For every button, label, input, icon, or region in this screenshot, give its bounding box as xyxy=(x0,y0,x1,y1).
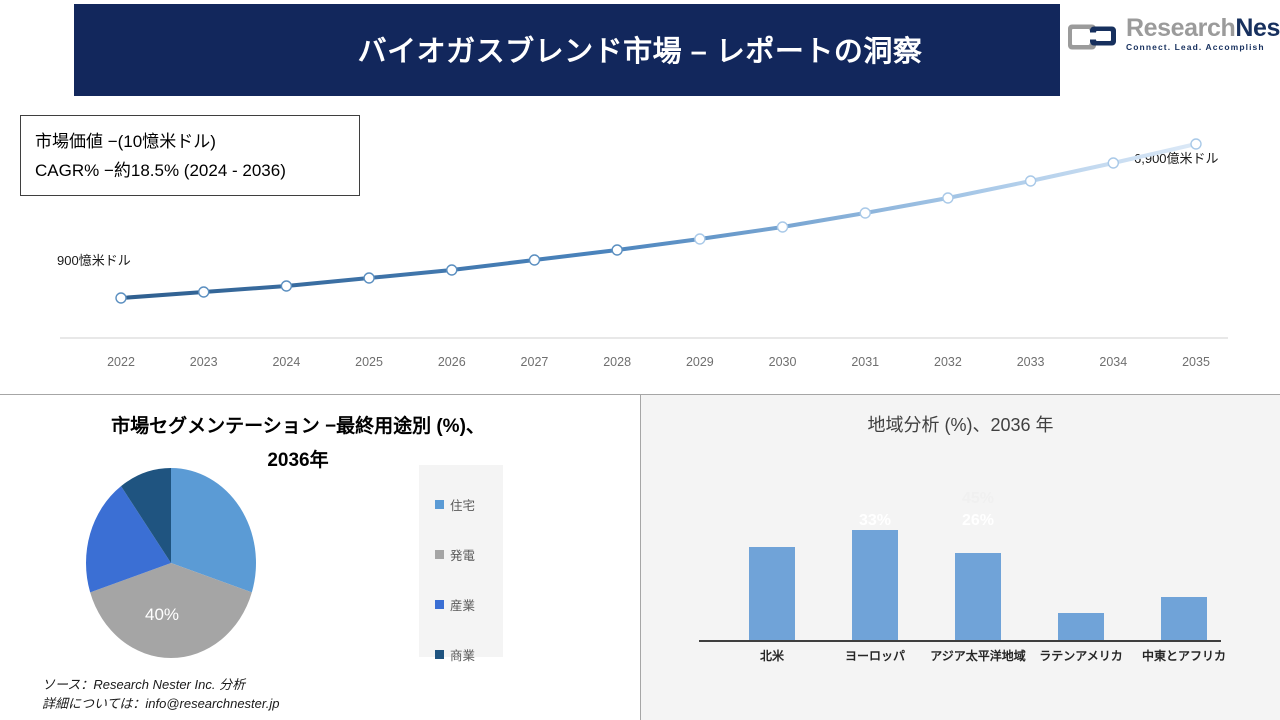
bar-value-label: 26% xyxy=(955,512,1001,530)
x-axis-year-label: 2034 xyxy=(1083,355,1143,369)
line-markers xyxy=(116,139,1201,303)
pie-title-line1: 市場セグメンテーション −最終用途別 (%)、 xyxy=(18,410,578,444)
line-marker xyxy=(116,293,126,303)
x-axis-year-label: 2030 xyxy=(753,355,813,369)
bar-category-label: 北米 xyxy=(712,647,832,664)
line-marker xyxy=(612,245,622,255)
line-marker xyxy=(1026,176,1036,186)
page-header: バイオガスブレンド市場 – レポートの洞察 ResearchNester Con… xyxy=(0,0,1280,96)
x-axis-year-label: 2035 xyxy=(1166,355,1226,369)
line-marker xyxy=(1108,158,1118,168)
pie-legend-label: 商業 xyxy=(450,645,475,664)
x-axis-year-label: 2023 xyxy=(174,355,234,369)
line-marker xyxy=(199,287,209,297)
segmentation-panel: 市場セグメンテーション −最終用途別 (%)、 2036年 40% 住宅発電産業… xyxy=(0,395,640,720)
line-marker xyxy=(1191,139,1201,149)
pie-legend: 住宅発電産業商業 xyxy=(419,465,503,657)
source-line-1: ソース：Research Nester Inc. 分析 xyxy=(42,675,279,694)
logo-text: ResearchNester Connect. Lead. Accomplish xyxy=(1126,14,1278,52)
x-axis-year-label: 2029 xyxy=(670,355,730,369)
bar-rect[interactable] xyxy=(749,547,795,640)
research-nester-logo: ResearchNester Connect. Lead. Accomplish xyxy=(1068,14,1278,66)
logo-word-research: Research xyxy=(1126,14,1235,42)
source-line-2: 詳細については：info@researchnester.jp xyxy=(42,694,279,713)
pie-legend-item[interactable]: 商業 xyxy=(419,629,503,679)
bar-column[interactable] xyxy=(1058,490,1104,640)
x-axis-year-label: 2033 xyxy=(1001,355,1061,369)
pie-legend-label: 住宅 xyxy=(450,495,475,514)
pie-chart-svg xyxy=(83,468,263,658)
x-axis-year-label: 2032 xyxy=(918,355,978,369)
bar-chart-axis xyxy=(699,640,1221,642)
legend-swatch-icon xyxy=(435,500,444,509)
bar-column[interactable] xyxy=(1161,490,1207,640)
pie-slices xyxy=(86,468,256,658)
line-chart-svg xyxy=(0,100,1280,394)
logo-word-nester: Nester xyxy=(1235,14,1280,42)
bar-category-label: 中東とアフリカ xyxy=(1124,647,1244,664)
legend-swatch-icon xyxy=(435,650,444,659)
pie-legend-item[interactable]: 産業 xyxy=(419,579,503,629)
pie-legend-item[interactable]: 発電 xyxy=(419,529,503,579)
line-marker xyxy=(778,222,788,232)
legend-swatch-icon xyxy=(435,600,444,609)
regional-analysis-panel: 地域分析 (%)、2036 年 33%45%26% 北米ヨーロッパアジア太平洋地… xyxy=(641,395,1280,720)
pie-legend-item[interactable]: 住宅 xyxy=(419,479,503,529)
legend-swatch-icon xyxy=(435,550,444,559)
bar-category-label: ヨーロッパ xyxy=(815,647,935,664)
line-marker xyxy=(281,281,291,291)
line-marker xyxy=(529,255,539,265)
x-axis-year-label: 2028 xyxy=(587,355,647,369)
x-axis-year-label: 2022 xyxy=(91,355,151,369)
bar-value-label: 33% xyxy=(852,512,898,530)
logo-mark-icon xyxy=(1068,19,1120,53)
pie-legend-label: 産業 xyxy=(450,595,475,614)
bar-column[interactable] xyxy=(749,490,795,640)
pie-slice-value-label: 40% xyxy=(130,605,194,625)
line-path xyxy=(121,144,1196,298)
line-marker xyxy=(860,208,870,218)
x-axis-year-label: 2026 xyxy=(422,355,482,369)
bar-category-label: アジア太平洋地域 xyxy=(918,647,1038,664)
x-axis-year-label: 2027 xyxy=(504,355,564,369)
market-value-line-chart: 900憶米ドル 6,900億米ドル 2022202320242025202620… xyxy=(0,100,1280,394)
x-axis-year-label: 2024 xyxy=(256,355,316,369)
line-marker xyxy=(364,273,374,283)
source-note: ソース：Research Nester Inc. 分析 詳細については：info… xyxy=(42,675,279,713)
bar-rect[interactable] xyxy=(955,553,1001,640)
x-axis-year-label: 2031 xyxy=(835,355,895,369)
bar-rect[interactable] xyxy=(852,530,898,640)
line-marker xyxy=(447,265,457,275)
line-series xyxy=(121,144,1196,298)
bar-chart-title: 地域分析 (%)、2036 年 xyxy=(641,411,1280,437)
bar-rect[interactable] xyxy=(1161,597,1207,640)
bar-value-label: 45% xyxy=(955,490,1001,508)
x-axis-year-label: 2025 xyxy=(339,355,399,369)
bar-rect[interactable] xyxy=(1058,613,1104,640)
line-marker xyxy=(943,193,953,203)
bar-category-label: ラテンアメリカ xyxy=(1021,647,1141,664)
bar-chart-plot: 33%45%26% xyxy=(711,490,1211,640)
line-marker xyxy=(695,234,705,244)
pie-legend-label: 発電 xyxy=(450,545,475,564)
logo-tagline: Connect. Lead. Accomplish xyxy=(1126,42,1278,52)
